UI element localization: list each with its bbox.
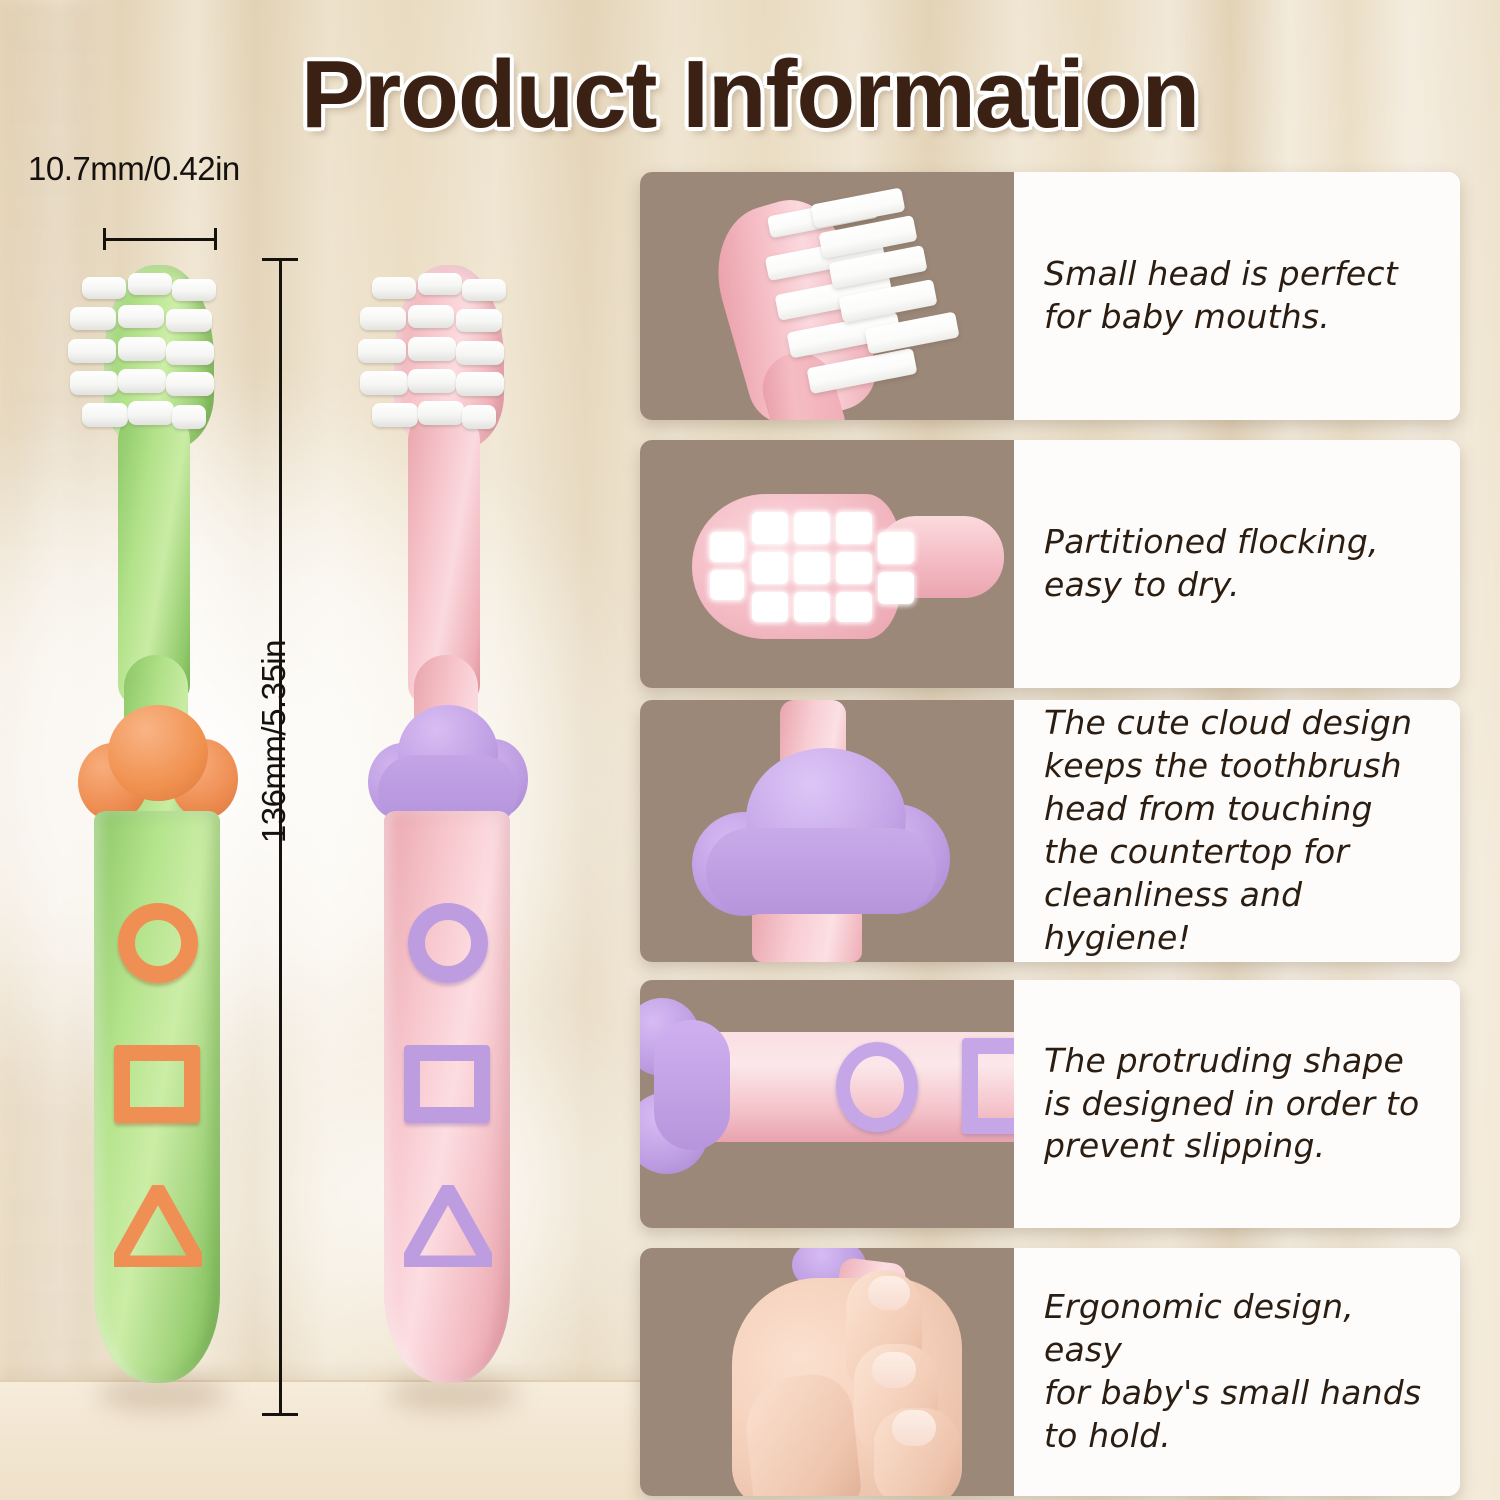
- pink-bristle-tuft: [360, 371, 408, 395]
- pink-bristle-tuft: [360, 307, 406, 330]
- flocking-tuft: [710, 532, 744, 562]
- feature-text: The cute cloud design keeps the toothbru…: [1044, 702, 1434, 959]
- pink-toothbrush-illustration: [350, 255, 580, 1435]
- photo-hand-holding-toothbrush: [640, 1248, 1014, 1496]
- feature-text-small-head: Small head is perfect for baby mouths.: [1014, 172, 1460, 420]
- pink-bristle-tuft: [372, 277, 416, 299]
- flocking-tuft: [878, 572, 914, 604]
- pink-bristle-tuft: [418, 273, 462, 295]
- feature-text-anti-slip: The protruding shape is designed in orde…: [1014, 980, 1460, 1228]
- feature-text-ergonomic: Ergonomic design, easy for baby's small …: [1014, 1248, 1460, 1496]
- green-handle-square-shape: [114, 1045, 200, 1123]
- product-information-poster: Product Information 10.7mm/0.42in 136mm/…: [0, 0, 1500, 1500]
- flocking-tuft: [794, 592, 830, 622]
- green-handle-triangle-shape: [114, 1185, 202, 1267]
- pink-bristle-tuft: [358, 339, 406, 363]
- page-title: Product Information: [0, 40, 1500, 150]
- flocking-tuft: [836, 552, 872, 584]
- flocking-tuft: [878, 532, 914, 564]
- feature-card-small-head[interactable]: Small head is perfect for baby mouths.: [640, 172, 1460, 420]
- feature-card-ergonomic[interactable]: Ergonomic design, easy for baby's small …: [640, 1248, 1460, 1496]
- green-toothbrush-illustration: [60, 255, 290, 1435]
- green-bristle-tuft: [172, 279, 216, 301]
- photo-toothbrush-head-closeup: [640, 172, 1014, 420]
- pink-handle-triangle-shape: [404, 1185, 492, 1267]
- pink-bristle-tuft: [418, 401, 464, 425]
- feature-text: Small head is perfect for baby mouths.: [1044, 253, 1398, 339]
- pink-bristle-tuft: [462, 405, 496, 429]
- green-bristle-tuft: [128, 401, 174, 425]
- flocking-tuft: [710, 570, 744, 600]
- photo-handle-protruding-shapes: [640, 980, 1014, 1228]
- pink-bristle-tuft: [456, 372, 504, 396]
- protruding-circle-shape: [836, 1042, 918, 1132]
- feature-text: Partitioned flocking, easy to dry.: [1044, 521, 1379, 607]
- green-handle-circle-shape: [118, 903, 198, 983]
- feature-text-cloud-design: The cute cloud design keeps the toothbru…: [1014, 700, 1460, 962]
- flocking-tuft: [836, 512, 872, 544]
- flocking-tuft: [794, 512, 830, 544]
- green-bristle-tuft: [70, 307, 116, 330]
- pink-bristle-tuft: [372, 403, 418, 427]
- green-bristle-tuft: [82, 277, 126, 299]
- pink-bristle-tuft: [408, 369, 456, 393]
- flocking-tuft: [752, 512, 788, 544]
- flocking-tuft: [794, 552, 830, 584]
- width-dimension-line: [103, 228, 217, 250]
- feature-card-partitioned-flocking[interactable]: Partitioned flocking, easy to dry.: [640, 440, 1460, 688]
- photo-purple-cloud-stand: [640, 700, 1014, 962]
- pink-handle-circle-shape: [408, 903, 488, 983]
- protruding-square-shape: [962, 1038, 1014, 1134]
- flocking-tuft: [752, 592, 788, 622]
- pink-bristle-tuft: [456, 341, 504, 365]
- green-bristle-tuft: [118, 337, 166, 361]
- green-bristle-tuft: [166, 309, 212, 332]
- feature-text-partitioned-flocking: Partitioned flocking, easy to dry.: [1014, 440, 1460, 688]
- pink-bristle-tuft: [408, 337, 456, 361]
- width-dimension-label: 10.7mm/0.42in: [28, 150, 240, 188]
- feature-text: Ergonomic design, easy for baby's small …: [1044, 1286, 1434, 1458]
- feature-text: The protruding shape is designed in orde…: [1044, 1040, 1419, 1169]
- green-bristle-tuft: [172, 405, 206, 429]
- green-bristle-tuft: [166, 372, 214, 396]
- photo-brush-head-top-view: [640, 440, 1014, 688]
- pink-handle-square-shape: [404, 1045, 490, 1123]
- flocking-tuft: [836, 592, 872, 622]
- feature-card-cloud-design[interactable]: The cute cloud design keeps the toothbru…: [640, 700, 1460, 962]
- green-bristle-tuft: [70, 371, 118, 395]
- pink-bristle-tuft: [408, 305, 454, 328]
- green-bristle-tuft: [118, 305, 164, 328]
- pink-bristle-tuft: [456, 309, 502, 332]
- green-bristle-tuft: [128, 273, 172, 295]
- green-bristle-tuft: [118, 369, 166, 393]
- green-bristle-tuft: [166, 341, 214, 365]
- feature-card-anti-slip[interactable]: The protruding shape is designed in orde…: [640, 980, 1460, 1228]
- green-bristle-tuft: [68, 339, 116, 363]
- green-bristle-tuft: [82, 403, 128, 427]
- pink-bristle-tuft: [462, 279, 506, 301]
- flocking-tuft: [752, 552, 788, 584]
